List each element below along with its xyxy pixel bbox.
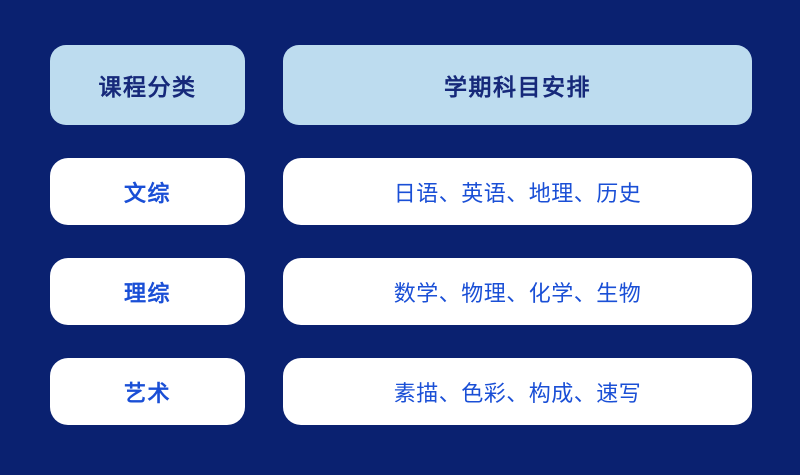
- table-row: 理综 数学、物理、化学、生物: [50, 258, 752, 325]
- table-header-row: 课程分类 学期科目安排: [50, 45, 752, 125]
- table-row: 艺术 素描、色彩、构成、速写: [50, 358, 752, 425]
- cell-subjects: 素描、色彩、构成、速写: [283, 358, 752, 425]
- subjects-label: 素描、色彩、构成、速写: [394, 376, 642, 408]
- cell-subjects: 数学、物理、化学、生物: [283, 258, 752, 325]
- cell-category: 文综: [50, 158, 245, 225]
- category-label: 艺术: [124, 376, 171, 408]
- header-cell-category: 课程分类: [50, 45, 245, 125]
- table-row: 文综 日语、英语、地理、历史: [50, 158, 752, 225]
- header-label-subjects: 学期科目安排: [444, 68, 591, 102]
- cell-category: 理综: [50, 258, 245, 325]
- category-label: 文综: [124, 176, 171, 208]
- category-label: 理综: [124, 276, 171, 308]
- subjects-label: 数学、物理、化学、生物: [394, 276, 642, 308]
- course-schedule-table: 课程分类 学期科目安排 文综 日语、英语、地理、历史 理综 数学、物理、化学、生…: [50, 45, 752, 425]
- cell-subjects: 日语、英语、地理、历史: [283, 158, 752, 225]
- cell-category: 艺术: [50, 358, 245, 425]
- subjects-label: 日语、英语、地理、历史: [394, 176, 642, 208]
- header-label-category: 课程分类: [99, 68, 197, 102]
- header-cell-subjects: 学期科目安排: [283, 45, 752, 125]
